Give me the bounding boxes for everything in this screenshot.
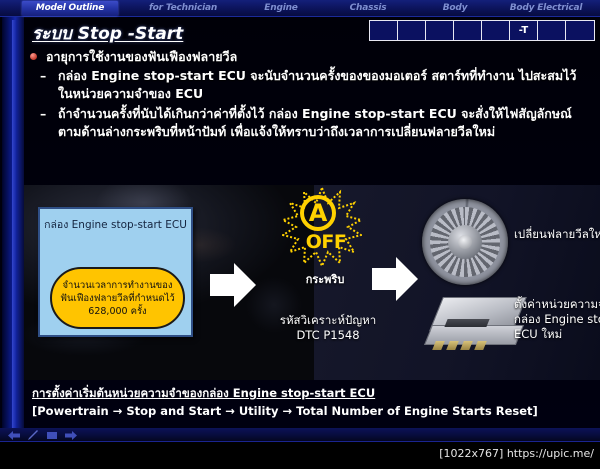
tab-engine[interactable]: Engine [238,1,324,16]
watermark-strip: [1022x767] https://upic.me/ [0,442,600,469]
tab-label: Engine [264,3,297,13]
arrow-shaft [372,268,398,290]
bullet-level2: – ถ้าจำนวนครั้งที่นับได้เกินกว่าค่าที่ตั… [28,105,588,141]
ecu-pin [474,341,487,350]
bullet-level2-label: กล่อง Engine stop-start ECU จะนับจำนวนคร… [58,68,576,101]
footnote-block: การตั้งค่าเริ่มต้นหน่วยความจำของกล่อง En… [32,385,592,418]
caption-reset-memory: ตั้งค่าหน่วยความจำของกล่อง Engine stop-s… [514,297,600,342]
caption-blink: กระพริบ [280,270,370,288]
forward-arrow-icon[interactable] [65,430,77,441]
footnote-line-1: การตั้งค่าเริ่มต้นหน่วยความจำของกล่อง En… [32,385,592,403]
ecu-module-image [428,297,524,353]
square-icon[interactable] [46,430,58,441]
slide-canvas: Model Outline for Technician Engine Chas… [0,0,600,441]
code-box [566,21,594,40]
arrow-head [396,257,418,301]
page-title: ระบบ Stop -Start [32,20,183,47]
ecu-info-box-title: กล่อง Engine stop-start ECU [40,218,191,232]
stop-start-off-indicator: A OFF [282,187,362,267]
code-box [370,21,398,40]
title-row: ระบบ Stop -Start -T [0,17,600,45]
tab-label: Chassis [350,3,387,13]
dash-glyph: – [40,105,46,123]
code-box [482,21,510,40]
flywheel-image [422,199,508,285]
back-arrow-icon[interactable] [8,430,20,441]
watermark-text: [1022x767] https://upic.me/ [439,447,594,460]
bullet-dot-icon [30,53,37,60]
ecu-pin [432,341,445,350]
caption-replace-flywheel: เปลี่ยนฟลายวีลใหม่ [514,227,600,242]
dash-glyph: – [40,67,46,85]
flywheel-hub [458,235,472,249]
tab-label: Body [443,3,468,13]
ecu-connector [444,319,489,327]
bottom-toolbar [0,428,600,442]
pen-icon[interactable] [27,430,39,441]
threshold-pill: จำนวนเวลาการทำงานของฟันเฟืองฟลายวีลที่กำ… [50,267,185,329]
arrow-shaft [210,274,236,296]
tab-body-electrical[interactable]: Body Electrical [494,1,598,16]
flow-arrow-right-2 [372,257,418,301]
code-box-t: -T [510,21,538,40]
code-box [454,21,482,40]
code-box [398,21,426,40]
code-box-group: -T [369,20,595,41]
ecu-info-box: กล่อง Engine stop-start ECU จำนวนเวลาการ… [38,207,193,337]
arrow-head [234,263,256,307]
bullet-level2: – กล่อง Engine stop-start ECU จะนับจำนวน… [28,67,588,103]
left-accent-highlight [12,20,16,432]
diagram-photo-area: กล่อง Engine stop-start ECU จำนวนเวลาการ… [24,185,600,380]
body-text-block: อายุการใช้งานของฟันเฟืองฟลายวีล – กล่อง … [28,48,588,141]
tab-chassis[interactable]: Chassis [324,1,412,16]
tab-model-outline[interactable]: Model Outline [22,1,118,16]
tab-label: Model Outline [36,3,104,13]
tab-label: Body Electrical [510,3,582,13]
top-tab-bar: Model Outline for Technician Engine Chas… [0,0,600,17]
footnote-line-2: [Powertrain → Stop and Start → Utility →… [32,404,592,418]
bullet-level1: อายุการใช้งานของฟันเฟืองฟลายวีล [28,48,588,65]
threshold-pill-text: จำนวนเวลาการทำงานของฟันเฟืองฟลายวีลที่กำ… [52,279,183,318]
tab-for-technician[interactable]: for Technician [128,1,238,16]
tab-body[interactable]: Body [416,1,494,16]
flow-arrow-right-1 [210,263,256,307]
code-box [538,21,566,40]
caption-dtc: รหัสวิเคราะห์ปัญหา DTC P1548 [268,313,388,343]
code-box [426,21,454,40]
ecu-pin [460,341,473,350]
a-letter-icon: A [300,195,336,231]
tab-label: for Technician [149,3,217,13]
bullet-level1-label: อายุการใช้งานของฟันเฟืองฟลายวีล [46,49,237,64]
ecu-pin [446,341,459,350]
bullet-level2-label: ถ้าจำนวนครั้งที่นับได้เกินกว่าค่าที่ตั้ง… [58,106,572,139]
screenshot-root: Model Outline for Technician Engine Chas… [0,0,600,469]
off-label: OFF [298,231,354,253]
